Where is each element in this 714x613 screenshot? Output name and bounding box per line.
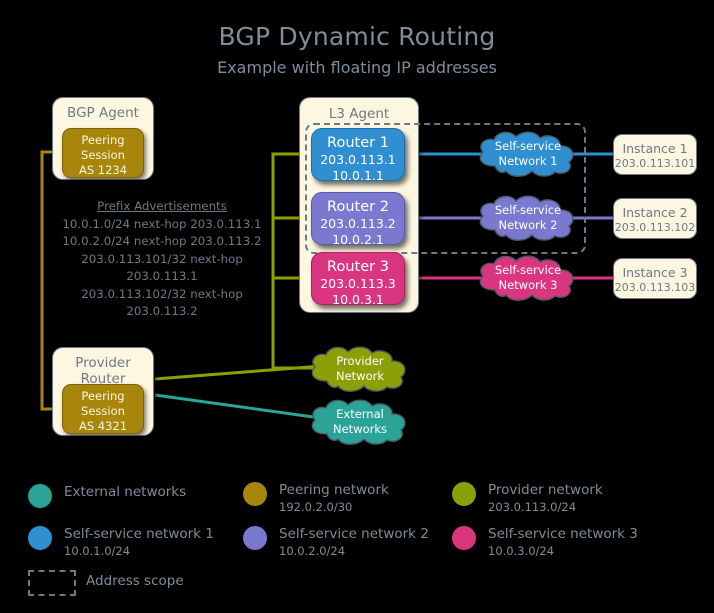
provider-network-cloud[interactable]: Provider Network [305,343,415,395]
prefix-advertisements: Prefix Advertisements 10.0.1.0/24 next-h… [46,198,278,321]
router-2[interactable]: Router 2 203.0.113.2 10.0.2.1 [311,192,405,245]
external-networks-cloud[interactable]: External Networks [305,396,415,448]
ssn3-line1: Self-service [495,263,561,277]
self-service-network-3-cloud[interactable]: Self-service Network 3 [473,252,583,304]
bgp-peering-line3: AS 1234 [63,163,143,178]
legend-sublabel: 192.0.2.0/30 [279,500,352,515]
legend-sublabel: 10.0.2.0/24 [279,544,345,559]
instance-3-ip: 203.0.113.103 [614,281,696,295]
ssn1-line1: Self-service [495,139,561,153]
legend-label: Peering network [279,482,389,499]
legend-label: External networks [64,484,186,501]
legend-sublabel: 10.0.1.0/24 [64,544,130,559]
router-3-ip2: 10.0.3.1 [312,292,404,308]
instance-3[interactable]: Instance 3 203.0.113.103 [613,258,697,299]
provider-peering-line3: AS 4321 [63,419,143,434]
legend-dot-peering-network [243,482,267,506]
ssn2-line2: Network 2 [499,218,558,232]
self-service-network-2-label: Self-service Network 2 [495,203,561,233]
bgp-peering-line2: Session [63,148,143,163]
prefix-row: 203.0.113.102/32 next-hop 203.0.113.2 [46,286,278,321]
external-networks-line1: External [336,407,384,421]
legend-sublabel: 10.0.3.0/24 [488,544,554,559]
prefix-row: 203.0.113.101/32 next-hop 203.0.113.1 [46,251,278,286]
external-networks-label: External Networks [333,407,387,437]
legend-label: Self-service network 2 [279,526,429,543]
router-1-name: Router 1 [312,134,404,152]
l3-agent-title: L3 Agent [300,106,418,122]
provider-network-label: Provider Network [336,354,384,384]
legend-sublabel: 203.0.113.0/24 [488,500,576,515]
router-3-ip1: 203.0.113.3 [312,276,404,292]
prefix-row: 10.0.1.0/24 next-hop 203.0.113.1 [46,216,278,234]
legend-dot-self-service-network-3 [452,526,476,550]
legend-address-scope-swatch [28,570,76,596]
provider-router-title-line1: Provider [53,355,153,371]
router-2-ip2: 10.0.2.1 [312,232,404,248]
bgp-peering-session: Peering Session AS 1234 [62,128,144,178]
router-3-name: Router 3 [312,258,404,276]
instance-2-name: Instance 2 [614,205,696,221]
router-3[interactable]: Router 3 203.0.113.3 10.0.3.1 [311,252,405,305]
legend-dot-provider-network [452,482,476,506]
ssn2-line1: Self-service [495,203,561,217]
provider-network-line1: Provider [336,354,383,368]
legend-label: Self-service network 3 [488,526,638,543]
instance-1[interactable]: Instance 1 203.0.113.101 [613,134,697,175]
self-service-network-1-cloud[interactable]: Self-service Network 1 [473,128,583,180]
instance-1-name: Instance 1 [614,141,696,157]
router-1-ip2: 10.0.1.1 [312,168,404,184]
external-networks-line2: Networks [333,422,387,436]
diagram-canvas: BGP Dynamic Routing Example with floatin… [0,0,714,613]
bgp-peering-line1: Peering [63,133,143,148]
instance-2-ip: 203.0.113.102 [614,221,696,235]
instance-3-name: Instance 3 [614,265,696,281]
router-1[interactable]: Router 1 203.0.113.1 10.0.1.1 [311,128,405,181]
ssn1-line2: Network 1 [499,154,558,168]
legend-dot-external-networks [28,484,52,508]
prefix-row: 10.0.2.0/24 next-hop 203.0.113.2 [46,233,278,251]
legend-dot-self-service-network-2 [243,526,267,550]
legend-dot-self-service-network-1 [28,526,52,550]
legend-label: Provider network [488,482,603,499]
prefix-heading: Prefix Advertisements [46,198,278,216]
router-2-ip1: 203.0.113.2 [312,216,404,232]
instance-2[interactable]: Instance 2 203.0.113.102 [613,198,697,239]
provider-peering-line1: Peering [63,389,143,404]
instance-1-ip: 203.0.113.101 [614,157,696,171]
self-service-network-3-label: Self-service Network 3 [495,263,561,293]
self-service-network-2-cloud[interactable]: Self-service Network 2 [473,192,583,244]
bgp-agent-title: BGP Agent [53,105,153,121]
ssn3-line2: Network 3 [499,278,558,292]
router-1-ip1: 203.0.113.1 [312,152,404,168]
self-service-network-1-label: Self-service Network 1 [495,139,561,169]
router-2-name: Router 2 [312,198,404,216]
legend-label: Self-service network 1 [64,526,214,543]
provider-peering-session: Peering Session AS 4321 [62,384,144,434]
legend-address-scope-label: Address scope [86,573,184,590]
provider-network-line2: Network [336,369,384,383]
provider-peering-line2: Session [63,404,143,419]
